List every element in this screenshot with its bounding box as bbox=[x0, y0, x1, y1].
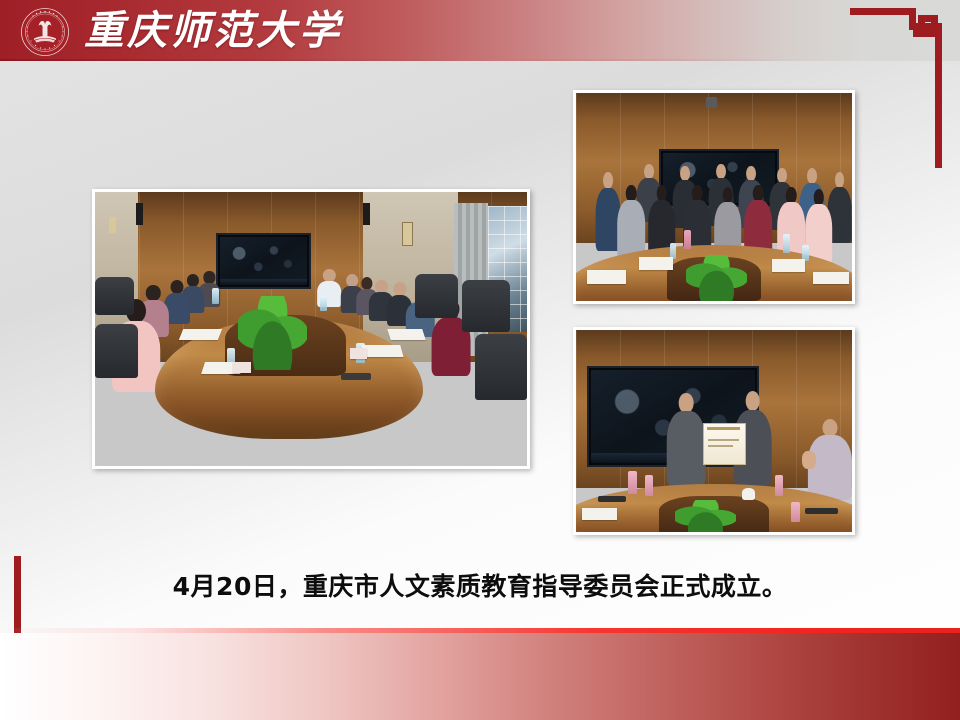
slide-caption: 4月20日，重庆市人文素质教育指导委员会正式成立。 bbox=[0, 567, 960, 603]
document-paper bbox=[639, 257, 672, 269]
chair bbox=[95, 324, 138, 379]
water-bottle bbox=[684, 230, 691, 249]
header-band: 重庆师范大学 bbox=[0, 0, 960, 61]
water-bottle bbox=[628, 471, 636, 493]
chair bbox=[95, 277, 134, 315]
table-plant bbox=[238, 296, 307, 370]
screen-taskbar bbox=[220, 279, 307, 285]
document-paper bbox=[587, 270, 626, 285]
chair bbox=[475, 334, 527, 400]
microphone bbox=[598, 496, 626, 502]
phone-device bbox=[341, 373, 371, 380]
speaker-left bbox=[136, 203, 143, 225]
table-plant bbox=[686, 255, 747, 301]
document-paper bbox=[813, 272, 849, 284]
hand-clapping bbox=[802, 451, 816, 469]
name-card bbox=[350, 348, 367, 359]
presentation-slide: 重庆师范大学 bbox=[0, 0, 960, 720]
person bbox=[805, 189, 833, 264]
water-bottle bbox=[212, 288, 219, 304]
display-screen bbox=[216, 233, 311, 289]
table-plant bbox=[675, 500, 736, 532]
certificate-text-line bbox=[708, 439, 738, 441]
wall-lamp-left bbox=[109, 217, 116, 233]
photo-group bbox=[573, 90, 855, 304]
certificate-title-line bbox=[707, 427, 740, 430]
photo-meeting bbox=[92, 189, 530, 469]
water-bottle bbox=[775, 475, 783, 495]
water-bottle bbox=[791, 502, 799, 522]
water-bottle bbox=[320, 296, 327, 311]
chair bbox=[462, 280, 510, 332]
speaker-right bbox=[363, 203, 370, 225]
document-paper bbox=[179, 329, 222, 340]
document-paper bbox=[772, 259, 805, 271]
wall-lamp-right bbox=[402, 222, 414, 246]
chair bbox=[415, 274, 458, 318]
document-paper bbox=[361, 345, 403, 357]
brand-title: 重庆师范大学 bbox=[84, 4, 342, 58]
person bbox=[617, 185, 645, 260]
document-paper bbox=[582, 508, 618, 520]
microphone bbox=[805, 508, 838, 514]
university-seal-icon bbox=[20, 7, 70, 57]
ceiling-camera-icon bbox=[706, 97, 717, 107]
water-bottle bbox=[783, 234, 790, 253]
water-bottle bbox=[645, 475, 653, 495]
chinese-corner-ornament-icon-top-right bbox=[850, 8, 942, 168]
certificate-text-line bbox=[708, 445, 733, 447]
screen-content bbox=[220, 237, 307, 285]
document-paper bbox=[387, 329, 425, 340]
person-presenter-left bbox=[667, 393, 706, 486]
footer-band bbox=[0, 633, 960, 720]
photo-award bbox=[573, 327, 855, 535]
name-card bbox=[233, 362, 250, 373]
tea-cup bbox=[742, 488, 756, 500]
